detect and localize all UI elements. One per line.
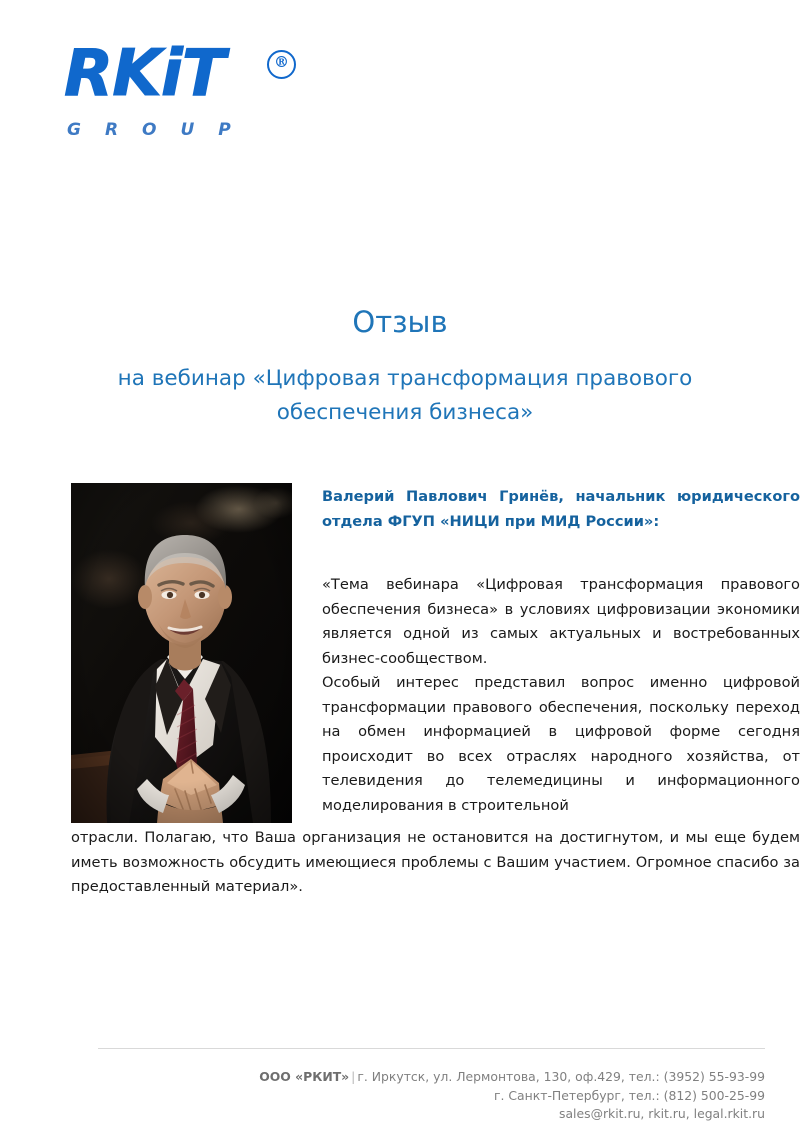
testimonial-paragraph-tail: отрасли. Полагаю, что Ваша организация н…	[71, 826, 800, 900]
footer-divider	[98, 1048, 765, 1049]
document-page: { "brand": { "logo_text": "RKiT", "logo_…	[0, 0, 800, 1146]
footer-line-3: sales@rkit.ru, rkit.ru, legal.rkit.ru	[98, 1105, 765, 1124]
registered-trademark-icon: ®	[267, 50, 296, 79]
footer-company-name: ООО «РКИТ»	[259, 1069, 349, 1084]
testimonial-attribution: Валерий Павлович Гринёв, начальник юриди…	[322, 485, 800, 534]
brand-logo: RKiT ® GROUP	[64, 44, 334, 154]
portrait-photo-image	[71, 483, 292, 823]
page-subtitle: на вебинар «Цифровая трансформация право…	[60, 362, 750, 430]
portrait-photo	[71, 483, 292, 823]
footer-address-irkutsk: г. Иркутск, ул. Лермонтова, 130, оф.429,…	[357, 1069, 765, 1084]
footer-line-2: г. Санкт-Петербург, тел.: (812) 500-25-9…	[98, 1087, 765, 1106]
footer-line-1: ООО «РКИТ»|г. Иркутск, ул. Лермонтова, 1…	[98, 1068, 765, 1087]
logo-wordmark: RKiT	[64, 38, 224, 110]
logo-mark: RKiT ® GROUP	[64, 44, 304, 116]
testimonial-paragraph-2: Особый интерес представил вопрос именно …	[322, 671, 800, 818]
testimonial-paragraph-1: «Тема вебинара «Цифровая трансформация п…	[322, 573, 800, 671]
footer: ООО «РКИТ»|г. Иркутск, ул. Лермонтова, 1…	[98, 1068, 765, 1124]
page-title: Отзыв	[100, 302, 700, 342]
logo-subtext-group: GROUP	[67, 120, 255, 140]
